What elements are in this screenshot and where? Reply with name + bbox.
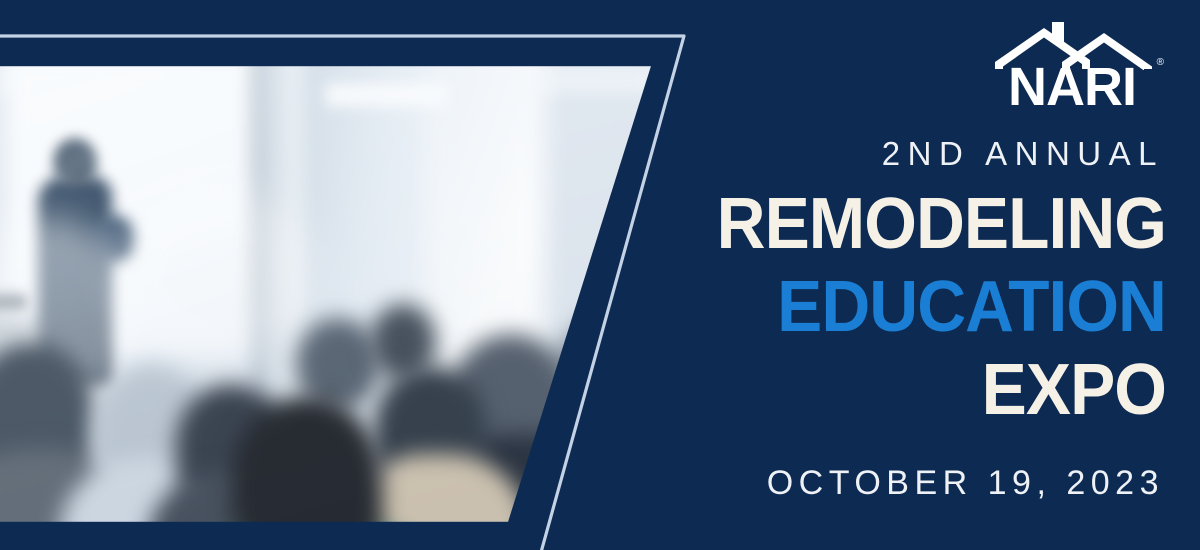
photo-highlight-mid <box>116 186 316 366</box>
title-line-education: EDUCATION <box>640 273 1166 342</box>
photo-ceiling-light <box>326 84 446 106</box>
title-line-remodeling: REMODELING <box>640 190 1166 259</box>
conference-audience-photo <box>0 66 656 522</box>
event-eyebrow: 2ND ANNUAL <box>882 137 1164 170</box>
event-date: OCTOBER 19, 2023 <box>767 466 1164 500</box>
photo-image <box>0 66 656 522</box>
banner-content: NARI ® 2ND ANNUAL REMODELING EDUCATION E… <box>606 0 1166 550</box>
photo-speaker-head <box>53 138 97 186</box>
event-title: REMODELING EDUCATION EXPO <box>606 190 1166 425</box>
registered-trademark-icon: ® <box>1157 58 1164 68</box>
event-banner: NARI ® 2ND ANNUAL REMODELING EDUCATION E… <box>0 0 1200 550</box>
nari-logo[interactable]: NARI ® <box>982 22 1162 114</box>
title-line-expo: EXPO <box>640 356 1166 425</box>
nari-wordmark: NARI <box>982 60 1162 114</box>
